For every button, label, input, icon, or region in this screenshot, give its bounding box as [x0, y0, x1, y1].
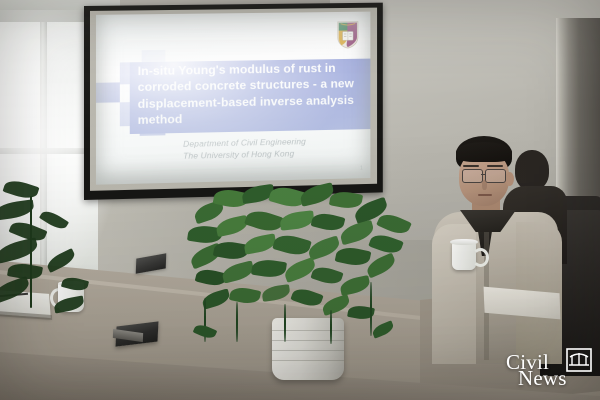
eyeglasses-bridge — [481, 174, 486, 175]
leafy-plant-silhouette — [0, 168, 110, 318]
mug-lid — [450, 239, 478, 245]
projector-screen-frame: In-situ Young's modulus of rust in corro… — [84, 3, 383, 200]
person-hair-front — [456, 142, 512, 162]
eyeglasses-lens-right — [485, 169, 506, 183]
slide-number: 1 — [360, 165, 363, 171]
hku-crest-icon — [337, 21, 359, 50]
person-ear — [505, 172, 514, 186]
potted-pothos-plant — [188, 186, 418, 346]
mug-handle — [472, 248, 489, 267]
person-nose — [482, 180, 487, 190]
projected-slide: In-situ Young's modulus of rust in corro… — [96, 12, 370, 185]
slide-subtitle: Department of Civil Engineering The Univ… — [183, 135, 367, 162]
slide-title: In-situ Young's modulus of rust in corro… — [138, 60, 370, 129]
slide-mosaic-square — [96, 82, 120, 102]
eyeglasses-lens-left — [462, 169, 483, 183]
photo-scene: In-situ Young's modulus of rust in corro… — [0, 0, 600, 400]
